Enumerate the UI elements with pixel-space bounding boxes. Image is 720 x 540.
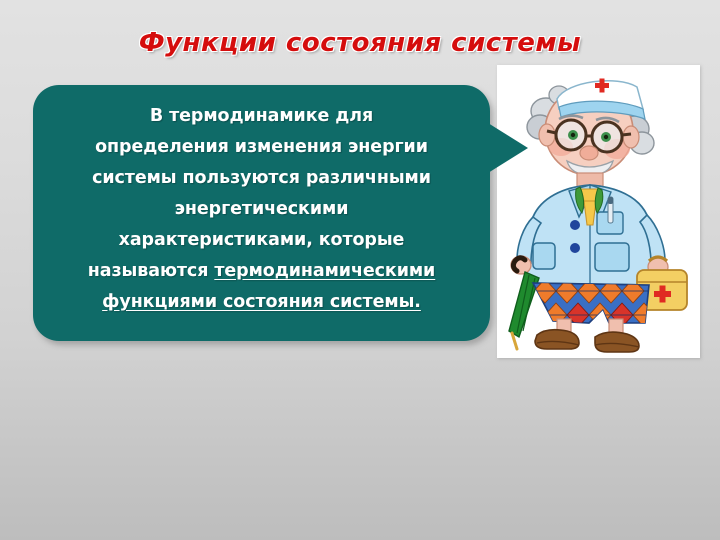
bubble-line-7-underlined: функциями состояния системы. xyxy=(102,292,421,312)
bubble-line-5: характеристиками, которые xyxy=(119,230,405,250)
cartoon-doctor-icon xyxy=(497,65,700,358)
bubble-line-1: В термодинамике для xyxy=(150,106,373,126)
bubble-line-6-plain: называются xyxy=(88,261,215,281)
speech-bubble-text: В термодинамике для определения изменени… xyxy=(33,101,490,318)
speech-bubble: В термодинамике для определения изменени… xyxy=(33,85,490,341)
slide-canvas: Функции состояния системы В термодинамик… xyxy=(0,0,720,540)
page-title: Функции состояния системы xyxy=(60,28,660,58)
doctor-illustration xyxy=(497,65,700,358)
bubble-line-6-underlined: термодинамическими xyxy=(214,261,435,281)
bubble-line-4: энергетическими xyxy=(175,199,349,219)
coat-button xyxy=(570,220,580,230)
coat-button xyxy=(570,243,580,253)
coat-pocket-right xyxy=(595,243,629,271)
pen-icon xyxy=(608,197,613,223)
coat-pocket-left xyxy=(533,243,555,269)
bubble-line-2: определения изменения энергии xyxy=(95,137,428,157)
argyle-shorts-group xyxy=(523,279,655,327)
shoes-group xyxy=(535,330,639,352)
bubble-line-3: системы пользуются различными xyxy=(92,168,431,188)
